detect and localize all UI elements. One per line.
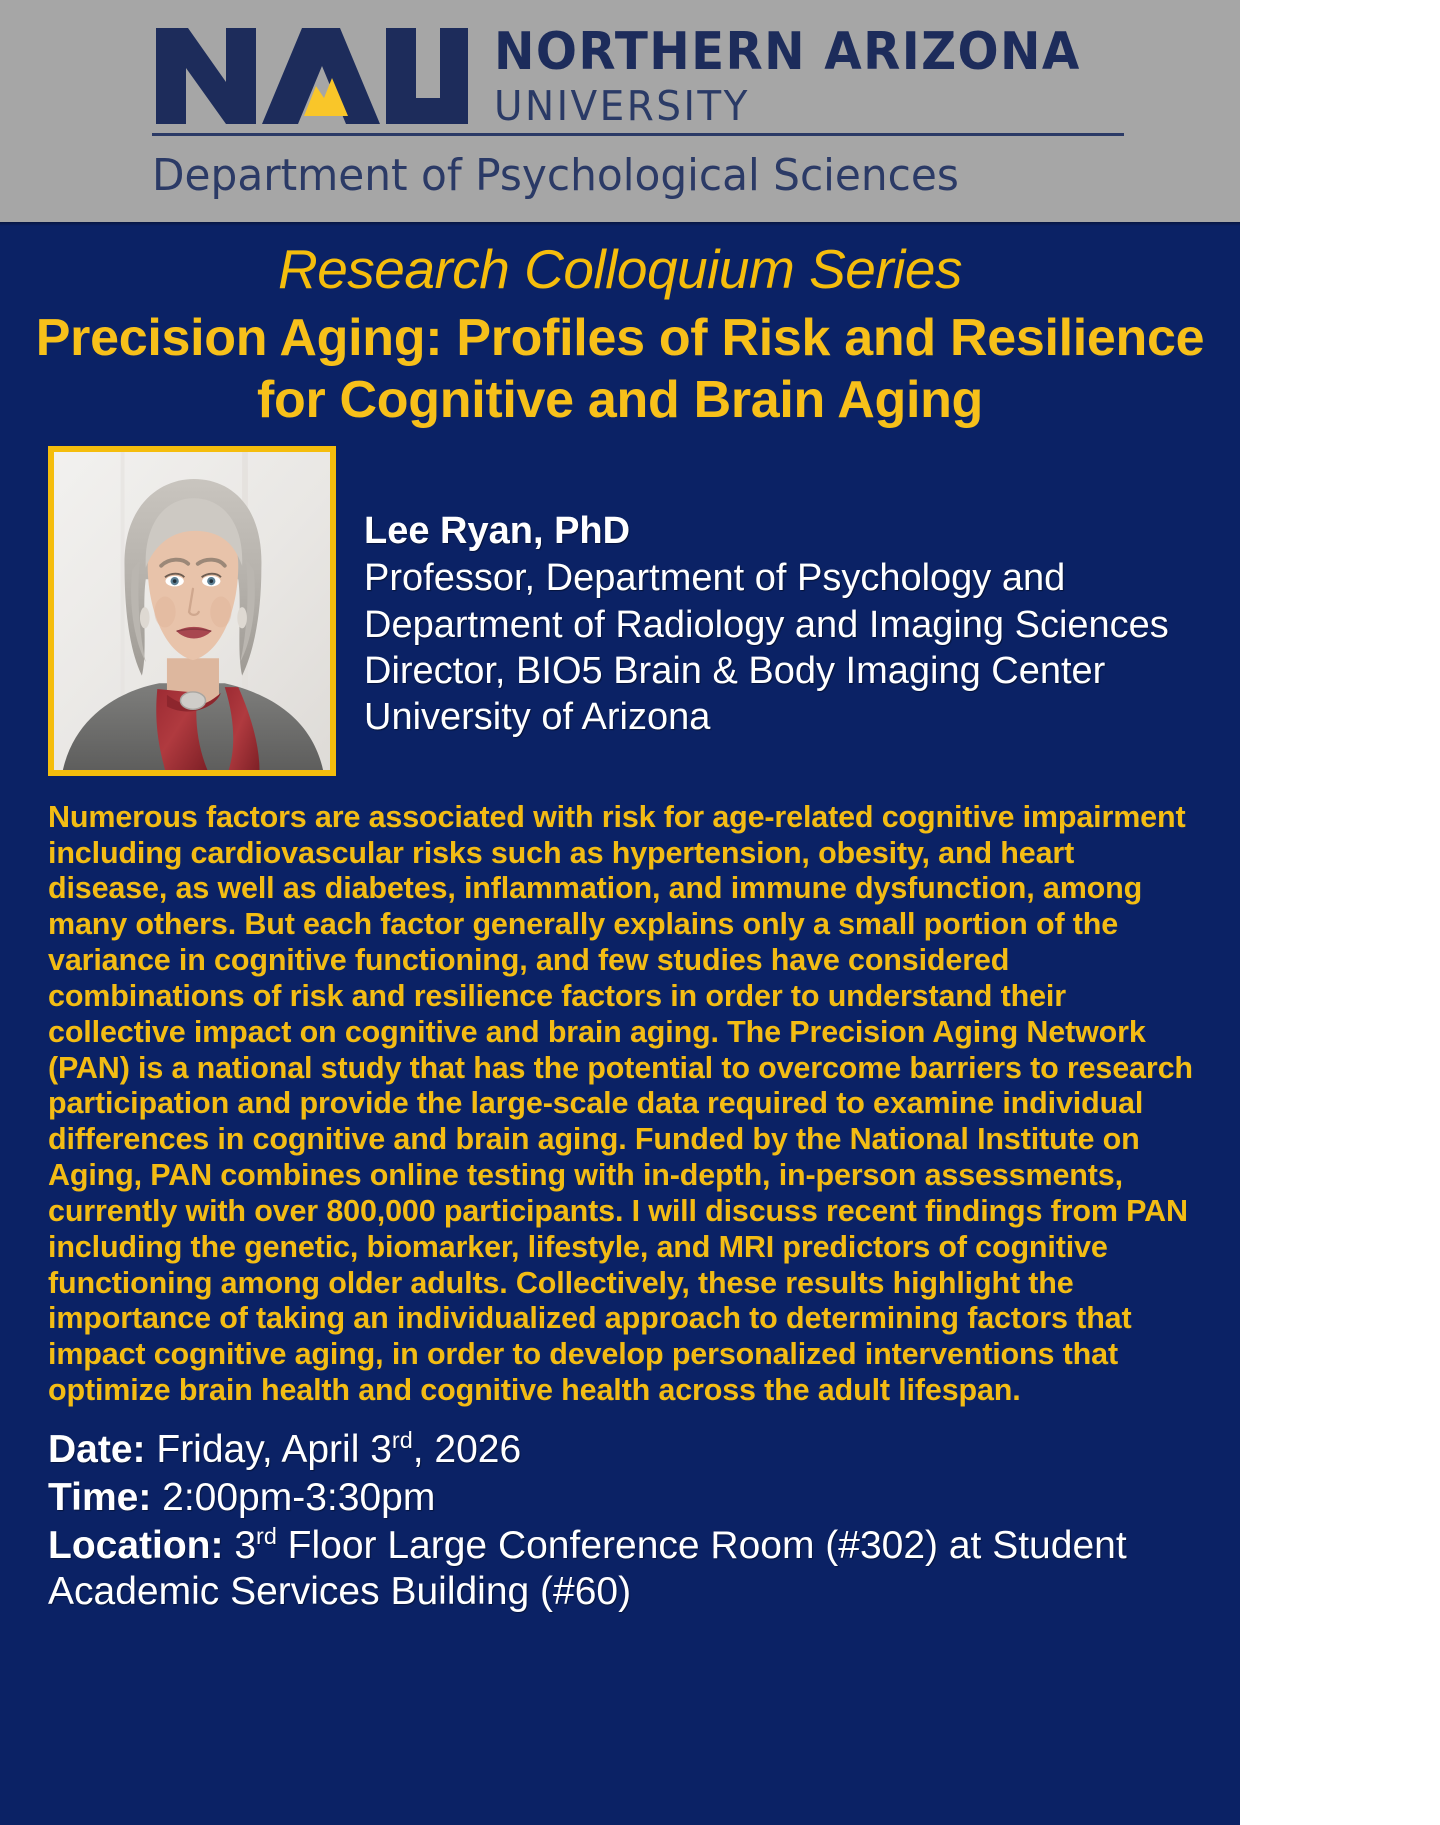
- page-title: Precision Aging: Profiles of Risk and Re…: [0, 297, 1240, 432]
- poster-body: Research Colloquium Series Precision Agi…: [0, 222, 1240, 1825]
- event-location-row: Location: 3rd Floor Large Conference Roo…: [48, 1523, 1195, 1615]
- university-name-line1: NORTHERN ARIZONA: [494, 26, 1081, 80]
- university-wordmark: NORTHERN ARIZONA UNIVERSITY: [494, 24, 1125, 129]
- series-title: Research Colloquium Series: [0, 222, 1240, 297]
- location-ordinal-number: 3: [234, 1524, 256, 1567]
- speaker-block: Lee Ryan, PhD Professor, Department of P…: [0, 432, 1240, 776]
- date-value-post: , 2026: [413, 1428, 521, 1471]
- header-divider: [152, 133, 1124, 136]
- speaker-affiliation-line-4: University of Arizona: [364, 694, 1169, 740]
- nau-logo-lockup: NORTHERN ARIZONA UNIVERSITY: [152, 24, 1125, 129]
- date-value-pre: Friday, April 3: [156, 1428, 392, 1471]
- page-right-margin: [1240, 0, 1440, 1825]
- date-ordinal-suffix: rd: [392, 1427, 413, 1453]
- event-date-row: Date: Friday, April 3rd, 2026: [48, 1427, 1195, 1473]
- speaker-photo-frame: [48, 446, 336, 776]
- speaker-affiliation-line-3: Director, BIO5 Brain & Body Imaging Cent…: [364, 648, 1169, 694]
- event-details: Date: Friday, April 3rd, 2026 Time: 2:00…: [0, 1409, 1240, 1615]
- university-name-line2: UNIVERSITY: [494, 84, 1093, 130]
- header-drop-shadow: [0, 222, 1240, 226]
- event-time-row: Time: 2:00pm-3:30pm: [48, 1475, 1195, 1521]
- nau-logo-icon: [152, 24, 472, 128]
- time-label: Time:: [48, 1476, 151, 1519]
- abstract-text: Numerous factors are associated with ris…: [0, 776, 1240, 1409]
- speaker-affiliation-line-2: Department of Radiology and Imaging Scie…: [364, 602, 1169, 648]
- location-label: Location:: [48, 1524, 223, 1567]
- speaker-portrait-image: [54, 452, 330, 770]
- time-value: 2:00pm-3:30pm: [162, 1476, 435, 1519]
- date-label: Date:: [48, 1428, 146, 1471]
- university-header: NORTHERN ARIZONA UNIVERSITY Department o…: [0, 0, 1240, 222]
- speaker-affiliation-line-1: Professor, Department of Psychology and: [364, 555, 1169, 601]
- colloquium-poster: NORTHERN ARIZONA UNIVERSITY Department o…: [0, 0, 1240, 1825]
- speaker-details: Lee Ryan, PhD Professor, Department of P…: [364, 446, 1169, 741]
- department-name: Department of Psychological Sciences: [152, 150, 959, 201]
- speaker-name: Lee Ryan, PhD: [364, 508, 1169, 556]
- location-ordinal-suffix: rd: [256, 1523, 277, 1549]
